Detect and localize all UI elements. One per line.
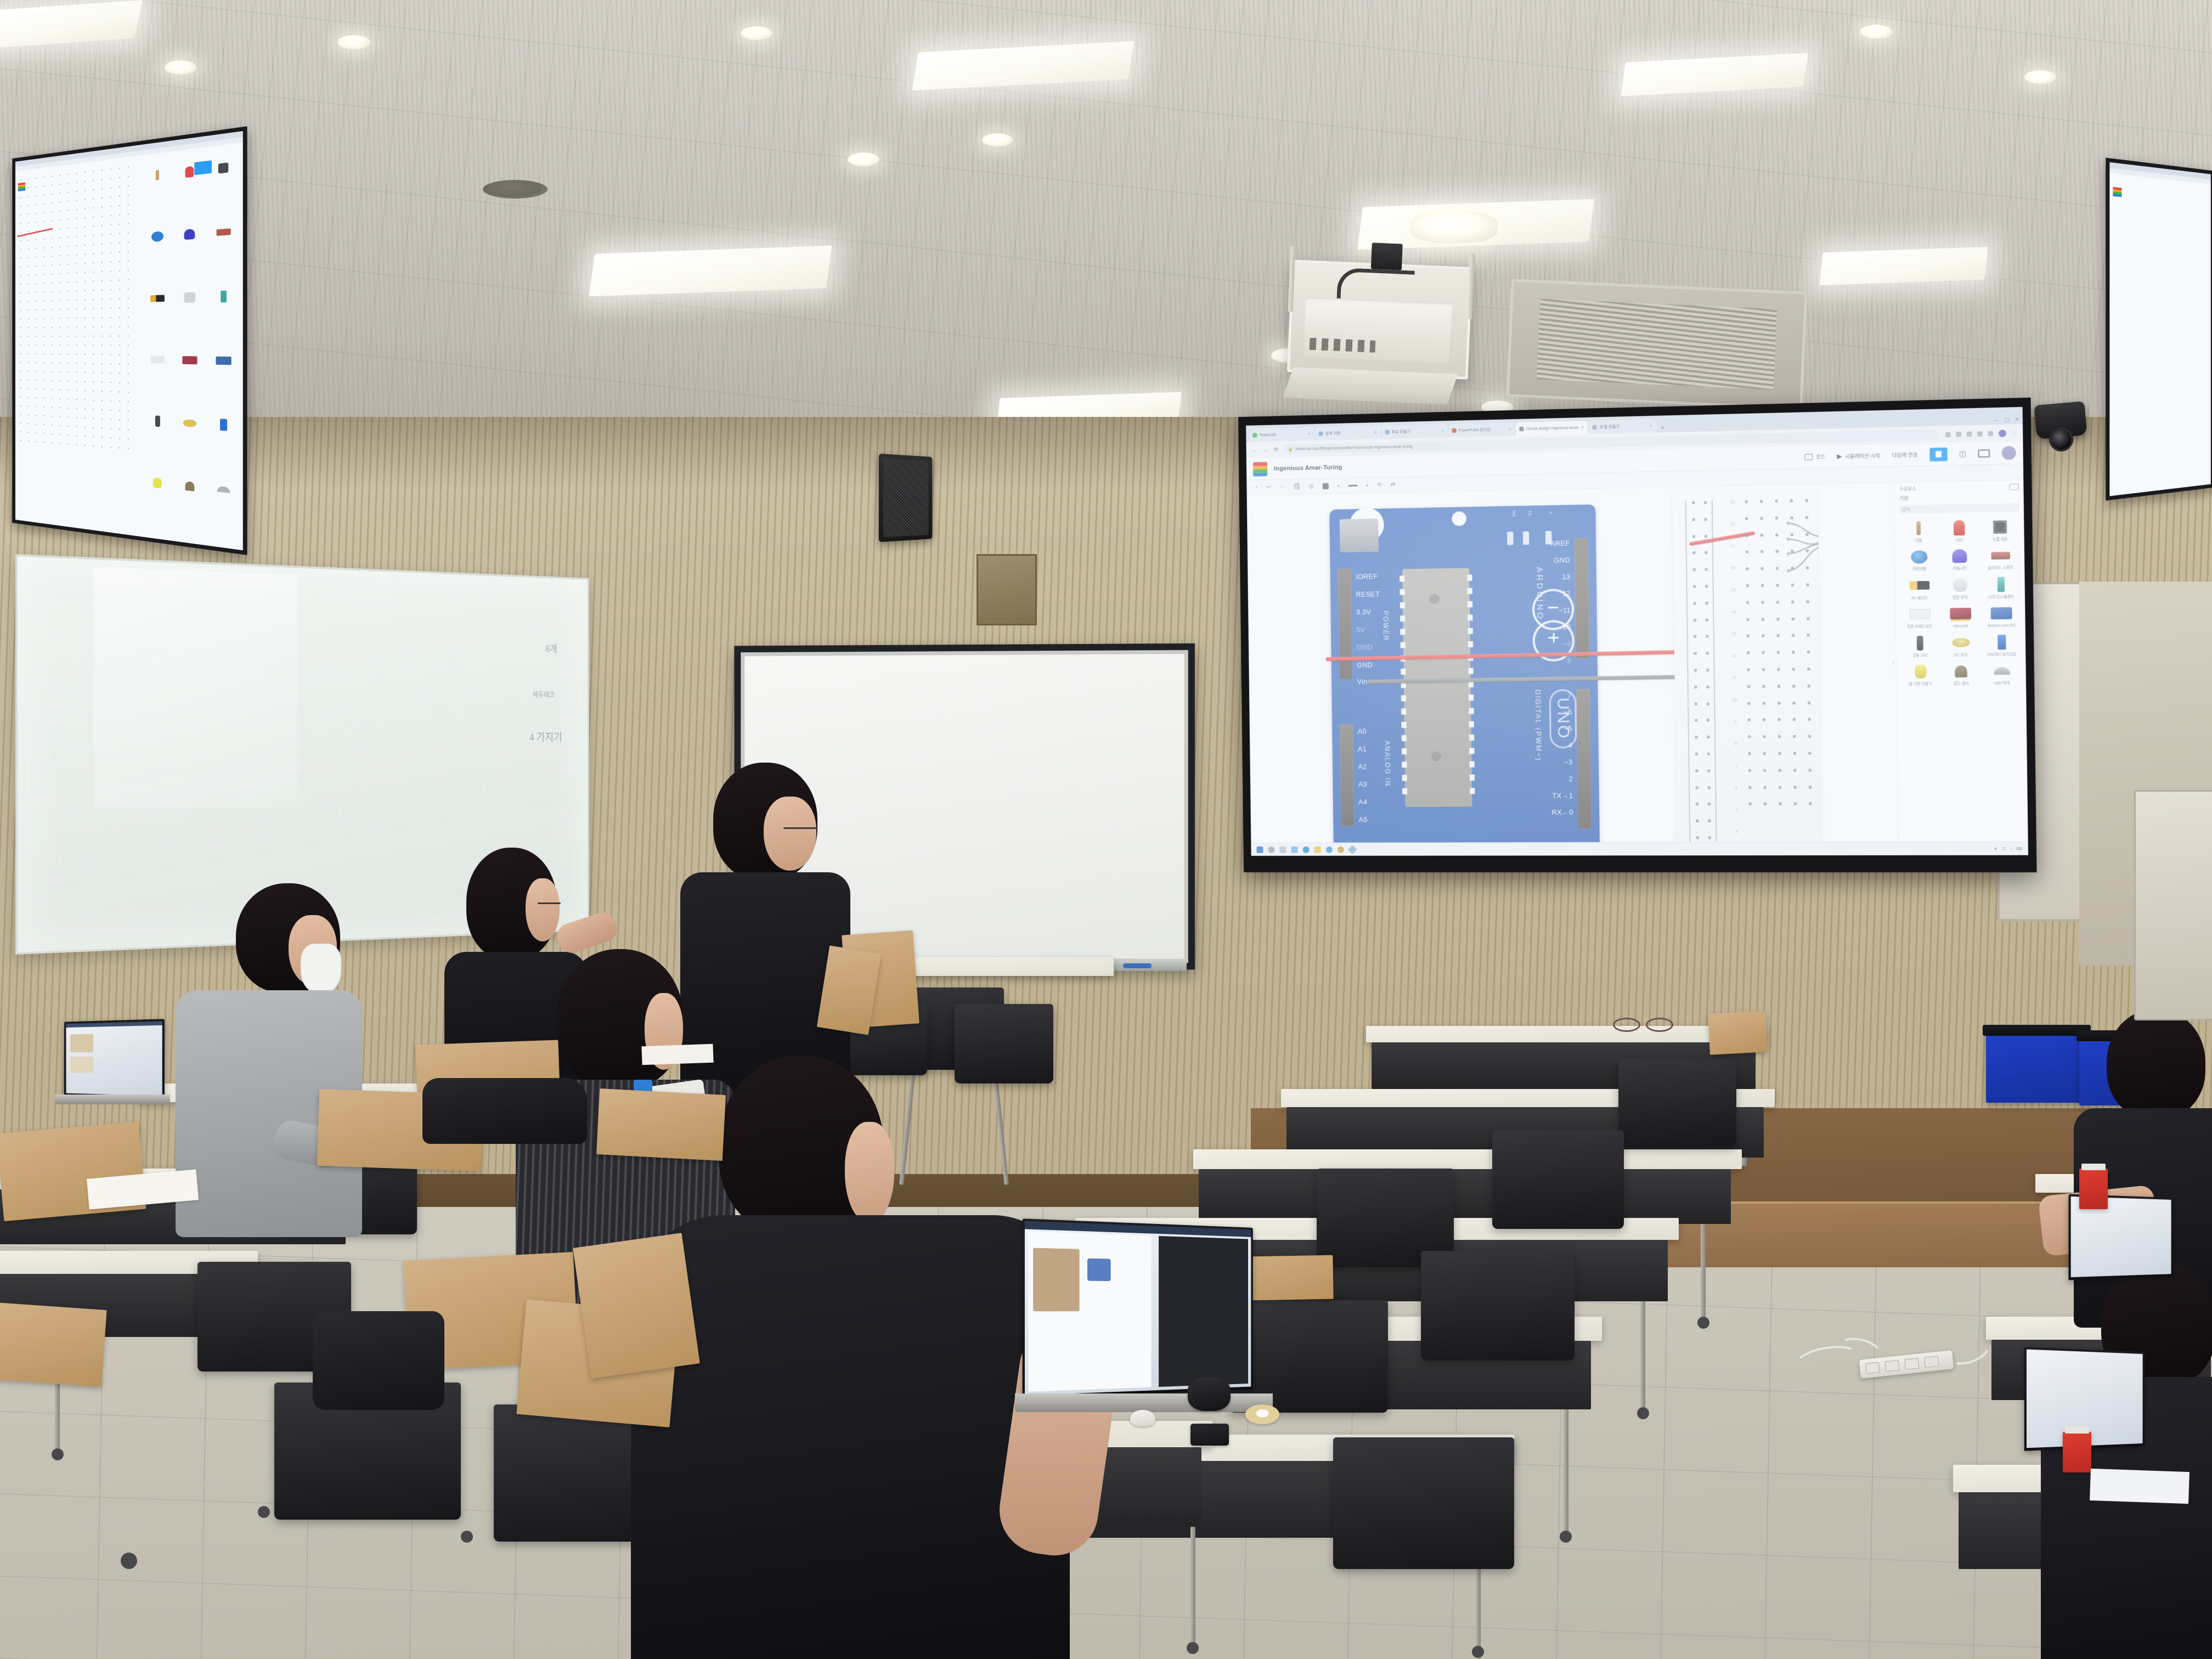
project-title[interactable]: Ingenious Amar-Turing [1274, 464, 1342, 472]
breadboard-row-number: 15 [1731, 588, 1735, 591]
desk [1366, 1026, 1767, 1042]
face [845, 1122, 894, 1223]
breadboard-row-number: 4 [1736, 829, 1738, 833]
breadboard-row-number: 8 [1735, 741, 1737, 745]
breadboard-row-number: 13 [1731, 631, 1736, 635]
ceiling-speaker-dome [1410, 211, 1498, 243]
palette-item-potentiometer[interactable]: 가변저항 [1900, 546, 1938, 572]
annotation-icon[interactable]: ◎ [1309, 483, 1314, 489]
ceiling-downlight [337, 35, 370, 49]
mini-palette-item[interactable] [174, 416, 206, 430]
breadboard-row-number: 5 [1735, 807, 1737, 811]
breadboard-column-g[interactable] [1760, 500, 1767, 819]
laptop-keyboard[interactable] [1015, 1393, 1273, 1412]
maximize-icon[interactable]: ▢ [2005, 417, 2009, 422]
palette-item-slide-switch[interactable]: 슬라이드 스위치 [1981, 545, 2020, 571]
undo-icon[interactable]: ↩ [1266, 484, 1271, 490]
pin-label-a3: A3 [1358, 781, 1367, 788]
desk-leg [1640, 1301, 1645, 1411]
rx-led-label: RX [1511, 510, 1516, 516]
desk-object [1188, 1377, 1231, 1411]
face [764, 797, 816, 871]
extension-icon[interactable] [1956, 431, 1961, 437]
l-led-icon [1545, 531, 1552, 545]
laptop-keyboard[interactable] [55, 1094, 170, 1104]
drink-carton [2063, 1432, 2091, 1472]
breadboard[interactable]: 19 18 17 16 15 14 13 12 11 10 9 8 7 6 [1672, 490, 1822, 843]
desk-leg [1564, 1409, 1568, 1536]
pushbutton-icon [1980, 516, 2019, 538]
tinkercad-logo-icon [2113, 187, 2121, 197]
desk-leg [1701, 1224, 1706, 1320]
ceiling-downlight [848, 153, 879, 166]
power-socket [1884, 1359, 1900, 1372]
palette-item-arduino-uno[interactable]: Arduino Uno R3 [1982, 603, 2021, 629]
url-text: tinkercad.com/things/xxxxx/editel?sharec… [1296, 444, 1413, 451]
pin-label-a2: A2 [1358, 763, 1367, 771]
desk-caster [1472, 1646, 1484, 1658]
tinkercad-logo-icon[interactable] [1253, 461, 1267, 476]
back-icon[interactable]: ← [1252, 447, 1257, 453]
glass-reflection [94, 567, 297, 809]
chair [1618, 1059, 1736, 1147]
mini-palette-item[interactable] [174, 478, 206, 494]
browser-tab[interactable]: 회로 만들기 ✕ [1381, 424, 1447, 439]
mini-palette-item[interactable] [143, 475, 173, 490]
rail-column[interactable] [1692, 501, 1701, 843]
tab-favicon-icon [1592, 425, 1596, 430]
send-to-label: 다음에 전송 [1892, 451, 1918, 459]
breadboard-row-number: 7 [1735, 763, 1737, 767]
code-button[interactable]: 코드 [1805, 453, 1826, 461]
palette-item-servo-motor[interactable]: 서보모터 마이크로 [1982, 631, 2021, 657]
edge-icon[interactable] [1303, 846, 1310, 853]
tray-icon[interactable]: ◫ [2002, 847, 2006, 851]
palette-item-piezo[interactable]: 압전 부저 [1940, 574, 1979, 600]
palette-search-input[interactable]: 검색 [1899, 503, 2019, 514]
mini-palette-item[interactable] [143, 292, 173, 305]
security-camera-icon [2034, 401, 2087, 439]
window-controls[interactable]: — ▢ ✕ [1994, 417, 2019, 425]
browser-tab[interactable]: PowerPoint 온라인 ✕ [1448, 422, 1515, 437]
list-view-icon[interactable] [1978, 449, 1990, 458]
redo-icon[interactable]: ↪ [1280, 484, 1285, 490]
logo-minus-icon [1548, 607, 1559, 608]
mini-palette-item[interactable] [207, 481, 240, 497]
mini-palette-item[interactable] [143, 414, 173, 428]
pin-label-vin: Vin [1357, 678, 1367, 686]
laptop-screen-content [66, 1022, 162, 1096]
rx-led-icon [1507, 532, 1514, 545]
wire-style-chevron-icon[interactable]: ▾ [1366, 483, 1368, 488]
ceiling-vent-hole [483, 180, 548, 199]
tx-led-icon [1523, 531, 1530, 545]
eyeglasses [538, 902, 561, 904]
start-simulation-label: 시뮬레이션 시작 [1845, 452, 1881, 460]
projector-ports [1310, 338, 1376, 353]
paper-sheet [641, 1044, 713, 1065]
cardboard-kit [573, 1233, 699, 1378]
drink-carton [2079, 1169, 2108, 1209]
computer-mouse[interactable] [1130, 1410, 1155, 1426]
desk-leg [1190, 1527, 1195, 1645]
pin-label-3v3: 3.3V [1356, 608, 1371, 616]
crate-lid [1983, 1025, 2090, 1036]
palette-item-dc-motor[interactable]: DC 모터 [1942, 632, 1980, 658]
cardboard-kit [1708, 1011, 1768, 1054]
tx-led-label: TX [1527, 510, 1532, 516]
palette-item-breadboard-small[interactable]: 작은 브레드보드 [1900, 604, 1939, 630]
chip-marking [1429, 594, 1440, 604]
wall-monitor-left[interactable] [12, 126, 247, 555]
breadboard-small-icon [1900, 604, 1939, 625]
extension-icon[interactable] [1945, 432, 1951, 437]
eyeglasses [783, 827, 817, 829]
glassboard-note: 에듀테크 [533, 689, 555, 699]
mini-palette-item[interactable] [143, 353, 173, 366]
smartphone[interactable] [1190, 1424, 1229, 1446]
play-icon: ▶ [1837, 453, 1842, 460]
start-simulation-button[interactable]: ▶ 시뮬레이션 시작 [1837, 452, 1881, 460]
ceiling-panel-light [1819, 247, 1988, 285]
pin-label-gnd: GND [1554, 556, 1570, 565]
chair [1492, 1130, 1624, 1229]
chrome-icon[interactable] [1326, 846, 1333, 853]
explorer-icon[interactable] [1291, 846, 1297, 853]
system-tray[interactable]: ▲ ◫ ♪ ⌨ [1994, 847, 2022, 851]
extension-icon[interactable] [1977, 431, 1983, 437]
mini-palette-item[interactable] [174, 163, 206, 179]
led-icon [1940, 517, 1978, 538]
chair [955, 1004, 1053, 1084]
palette-item-capacitor[interactable]: 커패시터 [1940, 546, 1979, 572]
mini-palette-item[interactable] [207, 417, 240, 432]
windows-taskbar[interactable]: ▲ ◫ ♪ ⌨ [1251, 842, 2028, 856]
palette-item-resistor[interactable]: 저항 [1899, 518, 1938, 544]
lcd-display-icon [1982, 574, 2021, 595]
laptop[interactable] [64, 1019, 165, 1098]
tab-favicon-icon [1452, 428, 1456, 433]
head [2107, 1009, 2205, 1119]
minimize-icon[interactable]: — [1994, 417, 1999, 422]
tab-close-icon[interactable]: ✕ [1374, 430, 1377, 435]
photoresistor-icon [1901, 661, 1939, 682]
equipment-cabinet [2134, 790, 2212, 1020]
chair-caster [121, 1553, 137, 1569]
vent-grille [1537, 299, 1777, 390]
projector-mount [1371, 242, 1403, 270]
slide-switch-icon [1981, 545, 2020, 566]
pin-label-ioref: IOREF [1356, 573, 1378, 581]
paper-sheet [2090, 1469, 2190, 1504]
tab-label: PowerPoint 온라인 [1459, 427, 1491, 433]
tab-label: Tinkercad [1259, 433, 1276, 437]
carton-top [2081, 1164, 2106, 1170]
breadboard-column-h[interactable] [1775, 500, 1782, 820]
tab-close-icon[interactable]: ✕ [1307, 432, 1311, 436]
browser-tab[interactable]: 새 탭 만들기 ✕ [1589, 419, 1656, 434]
chair [1421, 1251, 1575, 1361]
arduino-uno-board[interactable]: IOREF RESET 3.3V 5V GND GND Vin POWER A0… [1329, 504, 1600, 843]
vibration-motor-icon [1901, 633, 1939, 653]
digital-section-label: DIGITAL (PWM~) [1534, 690, 1543, 761]
ceiling-projector [1287, 259, 1472, 380]
digital-header-bottom[interactable] [1576, 689, 1592, 829]
tab-close-icon[interactable]: ✕ [1649, 424, 1652, 428]
pin-label-gnd2: GND [1357, 661, 1373, 669]
store-icon[interactable] [1314, 846, 1321, 853]
microbit-icon [1941, 603, 1979, 624]
breadboard-column-f[interactable] [1745, 500, 1752, 820]
split-view-icon[interactable]: ◫ [1959, 449, 1966, 458]
breadboard-row-number: 18 [1730, 521, 1735, 525]
analog-header[interactable] [1340, 724, 1354, 826]
tray-icon[interactable]: ▲ [1994, 847, 1998, 851]
l-led-label: L [1549, 512, 1554, 515]
laptop[interactable] [1023, 1218, 1253, 1398]
mini-palette-item[interactable] [174, 291, 206, 304]
mini-palette-item[interactable] [174, 227, 206, 242]
mini-palette-item[interactable] [207, 224, 240, 240]
mini-palette-item[interactable] [207, 289, 240, 303]
code-button-label: 코드 [1816, 453, 1826, 461]
palette-item-led-bar[interactable]: LED 막대 [1983, 661, 2022, 686]
pin-label-2: 2 [1568, 775, 1573, 783]
tab-label: 설계 사항 [1325, 431, 1341, 437]
pin-label-gnd1: GND [1357, 644, 1373, 651]
tray-icon[interactable]: ♪ [2010, 847, 2012, 851]
glassboard-note: 4 가지기 [529, 729, 562, 744]
pin-label-13: 13 [1562, 573, 1570, 580]
wall-monitor-left-screen [15, 131, 243, 550]
palette-item-vibration-motor[interactable]: 진동 모터 [1901, 633, 1939, 658]
browser-tab-active[interactable]: Circuit design Ingenious Amar ✕ [1516, 421, 1588, 436]
tab-label: 새 탭 만들기 [1599, 424, 1620, 430]
pin-label-8: 8 [1567, 657, 1572, 664]
pin-label-3: ~3 [1564, 758, 1573, 766]
storage-crate [1986, 1031, 2087, 1103]
speaker-mesh [883, 459, 929, 538]
power-socket [1904, 1358, 1920, 1370]
tab-favicon-icon [1385, 430, 1390, 435]
tab-close-icon[interactable]: ✕ [1441, 428, 1444, 433]
search-icon[interactable] [1268, 846, 1274, 853]
pin-label-5v: 5V [1356, 626, 1365, 634]
collapse-panel-icon[interactable]: › [1892, 659, 1894, 665]
forward-icon[interactable]: → [1263, 447, 1268, 453]
tab-label: 회로 만들기 [1392, 429, 1411, 435]
palette-item-pushbutton[interactable]: 누름 버튼 [1980, 516, 2019, 543]
circuit-canvas[interactable]: IOREF RESET 3.3V 5V GND GND Vin POWER A0… [1247, 480, 2028, 843]
bookmark-star-icon[interactable] [1988, 431, 1993, 436]
palette-category-label[interactable]: 기본 [1899, 492, 2019, 502]
palette-section-label: 구성요소 [1899, 486, 1916, 492]
active-view-button[interactable] [1929, 447, 1948, 461]
chip-marking [1431, 752, 1442, 761]
extension-icon[interactable] [1967, 431, 1972, 437]
whiteboard-marker[interactable] [1123, 963, 1152, 968]
note-icon[interactable]: 🗒 [1293, 484, 1300, 490]
task-view-icon[interactable] [1279, 846, 1286, 853]
tab-close-icon[interactable]: ✕ [1581, 425, 1584, 430]
face-mask [301, 944, 341, 994]
pin-label-rx0: RX←0 [1551, 809, 1573, 816]
rotate-icon[interactable]: ⟲ [1377, 482, 1382, 488]
mini-palette-item[interactable] [207, 354, 240, 367]
breadboard-row-number: 16 [1731, 565, 1735, 569]
breadboard-row-number: 12 [1732, 653, 1736, 657]
reload-icon[interactable]: ⟳ [1274, 447, 1279, 453]
pin-label-a5: A5 [1359, 816, 1368, 823]
desk-caster [1697, 1317, 1709, 1329]
projection-surface: Tinkercad ✕ 설계 사항 ✕ 회로 만들기 ✕ [1246, 407, 2028, 856]
rail-column[interactable] [1704, 501, 1713, 843]
send-to-button[interactable]: 다음에 전송 [1892, 451, 1918, 459]
desk-caster [1637, 1407, 1649, 1419]
breadboard-row-number: 10 [1733, 697, 1737, 701]
user-avatar[interactable] [2002, 445, 2016, 460]
ceiling-panel-light [589, 246, 832, 297]
backpack [313, 1311, 444, 1410]
piezo-buzzer-icon [1940, 574, 1979, 595]
mini-palette-item[interactable] [143, 229, 173, 244]
browser-extensions[interactable]: ⋮ [1945, 429, 2017, 438]
profile-avatar[interactable] [1999, 429, 2006, 437]
wall-monitor-right[interactable] [2106, 158, 2212, 501]
palette-item-led[interactable]: LED [1940, 517, 1979, 543]
view-icon [1936, 451, 1942, 458]
mini-tinkercad-canvas [15, 142, 243, 550]
list-view-icon[interactable] [2009, 483, 2018, 490]
desk-caster [52, 1448, 64, 1460]
power-rail-line [1685, 500, 1691, 843]
mini-tinkercad-canvas [2109, 173, 2210, 496]
power-rail-line [1712, 500, 1717, 843]
palette-item-temperature-sensor[interactable]: 온도 센서 [1942, 661, 1980, 687]
torso [631, 1215, 1070, 1659]
projection-screen: Tinkercad ✕ 설계 사항 ✕ 회로 만들기 ✕ [1238, 398, 2037, 872]
mirror-icon[interactable]: ⇄ [1390, 482, 1395, 488]
chair-caster [461, 1531, 473, 1543]
app-icon[interactable] [1348, 845, 1357, 854]
logo-plus-icon [1553, 633, 1555, 642]
chair-caster [258, 1506, 270, 1518]
desk [1193, 1149, 1742, 1169]
breadboard-row-number: 9 [1734, 719, 1736, 723]
pin-label-tx1: TX→1 [1552, 792, 1573, 799]
power-header[interactable] [1338, 569, 1353, 679]
ceiling-downlight [1860, 25, 1893, 39]
mini-component-palette[interactable] [142, 151, 241, 546]
lock-icon: 🔒 [1288, 447, 1293, 452]
analog-section-label: ANALOG IN [1383, 741, 1391, 787]
battery-icon [1900, 575, 1938, 596]
wire-style-icon[interactable] [1348, 485, 1357, 487]
history-icon[interactable]: ◔ [1254, 484, 1257, 490]
air-conditioner-vent [1506, 279, 1808, 409]
wire-color-chevron-icon[interactable]: ▾ [1338, 484, 1340, 488]
resistor-icon [1899, 518, 1938, 539]
capacitor-icon [1940, 546, 1979, 567]
new-tab-button[interactable]: + [1657, 425, 1668, 433]
projector-body [1302, 297, 1453, 363]
tab-favicon-icon [1519, 427, 1523, 431]
tab-close-icon[interactable]: ✕ [1508, 427, 1511, 431]
palette-item-microbit[interactable]: micro:bit [1941, 603, 1980, 629]
mounting-hole [1452, 511, 1466, 526]
pin-label-a1: A1 [1358, 745, 1367, 753]
breadboard-row-number: 6 [1735, 785, 1737, 789]
desk-caster [1187, 1642, 1199, 1654]
atmega-chip [1402, 568, 1472, 807]
browser-tab[interactable]: Tinkercad ✕ [1249, 427, 1314, 442]
close-icon[interactable]: ✕ [2015, 417, 2019, 422]
breadboard-row-number: 11 [1732, 675, 1736, 679]
palette-item-photoresistor[interactable]: 광 가변 저항기 [1901, 661, 1939, 687]
desk-modesty-panel [1199, 1169, 1731, 1224]
tray-icon[interactable]: ⌨ [2016, 847, 2022, 851]
ceiling-downlight [2024, 70, 2056, 84]
eyeglasses-on-desk [1613, 1018, 1673, 1030]
pin-label-reset: RESET [1356, 590, 1380, 599]
mini-palette-item[interactable] [143, 167, 173, 183]
wall-monitor-right-screen [2109, 162, 2210, 496]
carton-top [2065, 1427, 2089, 1434]
potentiometer-icon [1900, 546, 1938, 567]
servo-motor-icon [1982, 631, 2021, 652]
mini-palette-item[interactable] [207, 160, 240, 176]
wall-access-panel [977, 554, 1037, 625]
palette-item-lcd[interactable]: LCD 디스플레이 [1982, 574, 2021, 600]
tab-label: Circuit design Ingenious Amar [1526, 426, 1579, 431]
temperature-sensor-icon [1942, 661, 1980, 682]
ceiling-downlight [741, 26, 772, 40]
wire-color-swatch[interactable] [1323, 483, 1329, 489]
wall-speaker [879, 454, 933, 542]
led-bar-graph-icon [1983, 661, 2022, 681]
palette-item-battery[interactable]: 9V 배터리 [1900, 575, 1938, 601]
laptop-screen-content [1025, 1221, 1251, 1396]
start-icon[interactable] [1256, 846, 1263, 853]
pin-label-aref: AREF [1550, 539, 1570, 548]
power-socket [1924, 1356, 1939, 1368]
arduino-uno-icon [1982, 603, 2021, 624]
mini-breadboard [17, 161, 136, 450]
masking-tape-roll [1245, 1404, 1279, 1424]
settings-icon[interactable] [1338, 846, 1344, 853]
ceiling-downlight [165, 60, 196, 75]
palette-grid[interactable]: 저항 LED 누름 버튼 [1899, 516, 2021, 687]
mini-palette-item[interactable] [174, 354, 206, 367]
tinkercad-header-actions: 코드 ▶ 시뮬레이션 시작 다음에 전송 ◫ [1805, 445, 2016, 464]
component-palette[interactable]: › 구성요소 기본 검색 저항 [1894, 480, 2028, 842]
tab-favicon-icon [1252, 433, 1257, 437]
jacket [422, 1078, 587, 1144]
glassboard-note: 8개 [546, 642, 557, 656]
cardboard-kit [596, 1088, 726, 1161]
digital-header-top[interactable] [1575, 538, 1590, 658]
browser-menu-icon[interactable]: ⋮ [2012, 430, 2017, 436]
desk-caster [1560, 1531, 1572, 1543]
power-section-label: POWER [1381, 611, 1390, 641]
palette-header: 구성요소 [1899, 483, 2019, 492]
browser-tab[interactable]: 설계 사항 ✕ [1315, 426, 1380, 441]
uno-wordmark: UNO [1549, 689, 1577, 748]
classroom-scene: 8개 에듀테크 4 가지기 Tinkercad ✕ [0, 0, 2212, 1659]
component-leads [1786, 516, 1820, 601]
usb-connector [1340, 518, 1379, 552]
ceiling-downlight [982, 133, 1013, 146]
